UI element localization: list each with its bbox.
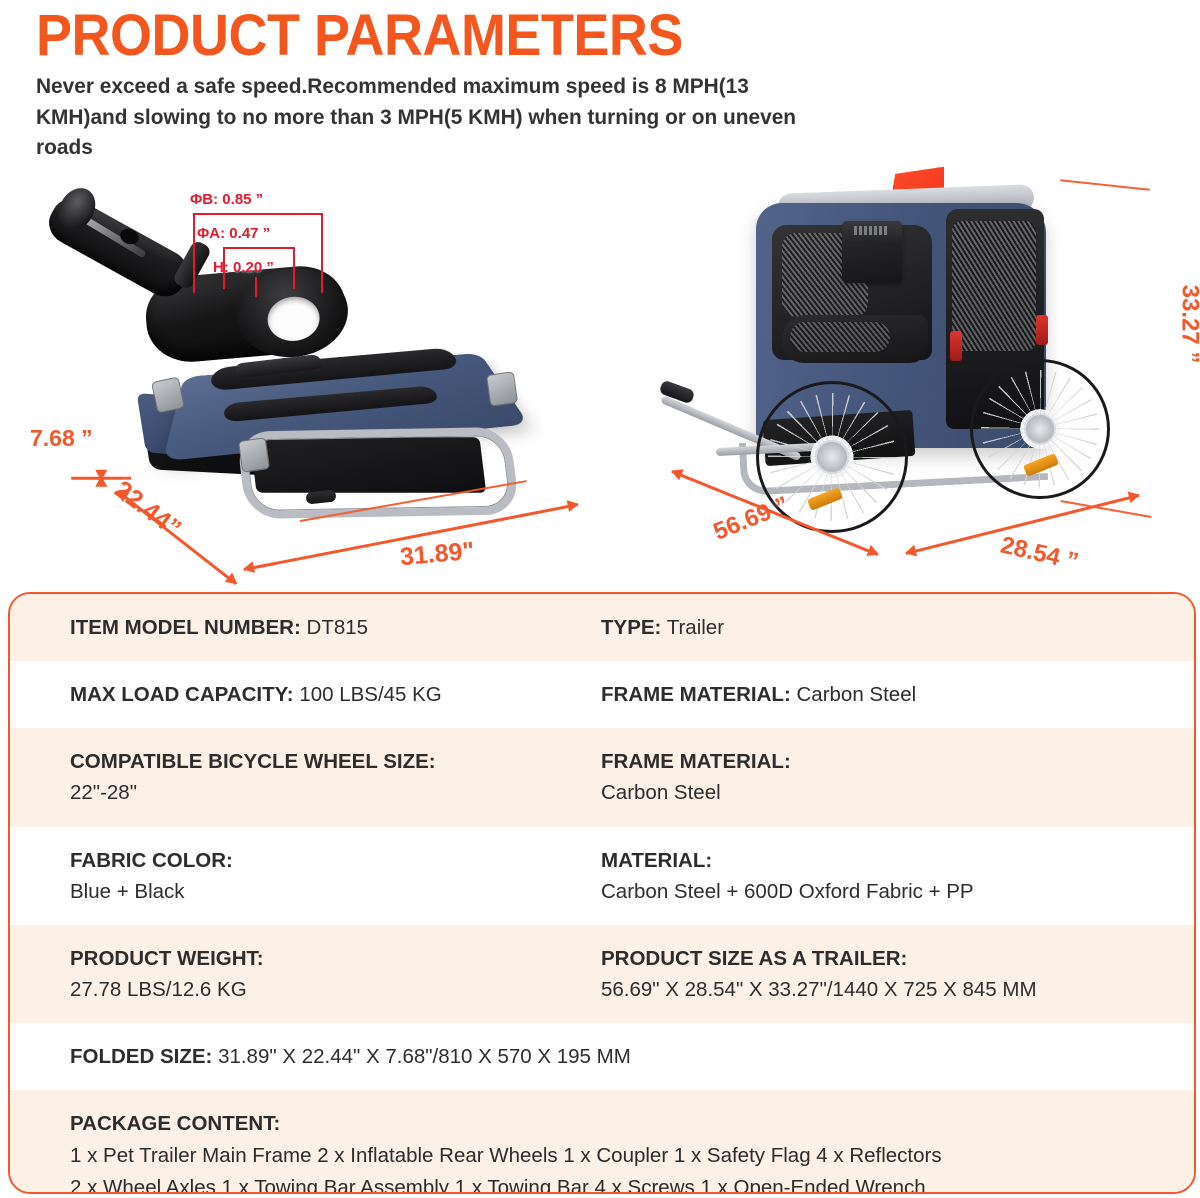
table-row: ITEM MODEL NUMBER: DT815 TYPE: Trailer	[10, 594, 1194, 661]
spec-value: Carbon Steel + 600D Oxford Fabric + PP	[601, 876, 1190, 907]
spec-key: ITEM MODEL NUMBER:	[70, 616, 301, 639]
folded-hinge-left	[151, 376, 185, 413]
table-row: PACKAGE CONTENT: 1 x Pet Trailer Main Fr…	[10, 1090, 1194, 1194]
product-image-band: ΦB: 0.85 ” ΦA: 0.47 ” H: 0.20 ”	[0, 163, 1200, 558]
specification-table: ITEM MODEL NUMBER: DT815 TYPE: Trailer M…	[8, 592, 1196, 1194]
spec-key: PRODUCT WEIGHT:	[70, 947, 264, 970]
package-line: 2 x Wheel Axles 1 x Towing Bar Assembly …	[70, 1172, 1194, 1194]
spec-key: MAX LOAD CAPACITY:	[70, 683, 294, 706]
callout-tick-b-right	[321, 213, 323, 293]
table-row: COMPATIBLE BICYCLE WHEEL SIZE: 22"-28" F…	[10, 728, 1194, 826]
spec-key: TYPE:	[601, 616, 661, 639]
table-row: FABRIC COLOR: Blue + Black MATERIAL: Car…	[10, 827, 1194, 925]
brand-logo	[854, 226, 888, 235]
spec-key: MATERIAL:	[601, 849, 712, 872]
table-row: PRODUCT WEIGHT: 27.78 LBS/12.6 KG PRODUC…	[10, 925, 1194, 1023]
rear-reflector-right	[1036, 315, 1048, 345]
rear-reflector-left	[950, 331, 962, 361]
spec-key: FOLDED SIZE:	[70, 1045, 212, 1068]
folded-hinge-front	[238, 437, 270, 473]
spec-value: Blue + Black	[70, 876, 585, 907]
rear-wheel-hub	[1026, 415, 1054, 443]
callout-tick-a-right	[293, 247, 295, 289]
spec-cell: MAX LOAD CAPACITY: 100 LBS/45 KG	[10, 661, 585, 728]
spec-key: PRODUCT SIZE AS A TRAILER:	[601, 947, 907, 970]
folded-length-label: 31.89"	[399, 537, 476, 572]
spec-value: 31.89" X 22.44" X 7.68"/810 X 570 X 195 …	[218, 1045, 631, 1068]
spec-cell: ITEM MODEL NUMBER: DT815	[10, 594, 585, 661]
spec-cell: FRAME MATERIAL: Carbon Steel	[585, 661, 1190, 728]
callout-tick-b-left	[193, 213, 195, 293]
spec-key: PACKAGE CONTENT:	[70, 1112, 280, 1135]
spec-cell: PRODUCT WEIGHT: 27.78 LBS/12.6 KG	[10, 925, 585, 1023]
spec-cell: FRAME MATERIAL: Carbon Steel	[585, 728, 1190, 826]
spec-value: 27.78 LBS/12.6 KG	[70, 974, 585, 1005]
spec-value: 56.69" X 28.54" X 33.27"/1440 X 725 X 84…	[601, 974, 1190, 1005]
callout-line-b	[193, 213, 323, 215]
callout-tick-h	[255, 277, 257, 297]
spec-value: Trailer	[667, 616, 724, 639]
package-content-cell: PACKAGE CONTENT: 1 x Pet Trailer Main Fr…	[10, 1090, 1194, 1194]
page-title: PRODUCT PARAMETERS	[36, 6, 1119, 65]
storage-pocket-flap	[842, 221, 902, 243]
spec-key: FABRIC COLOR:	[70, 849, 233, 872]
coupler-dimension-callouts: ΦB: 0.85 ” ΦA: 0.47 ” H: 0.20 ”	[185, 181, 355, 321]
assembled-trailer-image	[660, 163, 1150, 558]
spec-value: 100 LBS/45 KG	[299, 683, 441, 706]
front-wheel-hub	[817, 442, 847, 472]
rear-wheel	[970, 359, 1110, 499]
folded-hinge-right	[486, 371, 518, 407]
folded-steel-frame	[236, 427, 520, 519]
folded-height-label: 7.68 ”	[30, 425, 93, 452]
callout-tick-a-left	[223, 247, 225, 289]
spec-value: 22"-28"	[70, 777, 585, 808]
coupler-diameter-a-label: ΦA: 0.47 ”	[197, 225, 270, 242]
spec-value: Carbon Steel	[601, 777, 1190, 808]
spec-key: COMPATIBLE BICYCLE WHEEL SIZE:	[70, 750, 436, 773]
page-header: PRODUCT PARAMETERS Never exceed a safe s…	[0, 0, 1200, 163]
folded-size-cell: FOLDED SIZE: 31.89" X 22.44" X 7.68"/810…	[10, 1023, 1194, 1090]
spec-key: FRAME MATERIAL:	[601, 683, 791, 706]
spec-cell: COMPATIBLE BICYCLE WHEEL SIZE: 22"-28"	[10, 728, 585, 826]
trailer-storage-pocket	[842, 221, 902, 283]
spec-cell: FABRIC COLOR: Blue + Black	[10, 827, 585, 925]
callout-line-a	[223, 247, 295, 249]
spec-cell: MATERIAL: Carbon Steel + 600D Oxford Fab…	[585, 827, 1190, 925]
spec-value: Carbon Steel	[797, 683, 917, 706]
spec-key: FRAME MATERIAL:	[601, 750, 791, 773]
coupler-diameter-b-label: ΦB: 0.85 ”	[190, 191, 263, 208]
spec-cell: TYPE: Trailer	[585, 594, 1190, 661]
trailer-height-label: 33.27 ”	[1175, 285, 1200, 364]
table-row: FOLDED SIZE: 31.89" X 22.44" X 7.68"/810…	[10, 1023, 1194, 1090]
spec-value: DT815	[307, 616, 369, 639]
trailer-lower-mesh-window	[782, 315, 928, 363]
spec-cell: PRODUCT SIZE AS A TRAILER: 56.69" X 28.5…	[585, 925, 1190, 1023]
safety-note: Never exceed a safe speed.Recommended ma…	[36, 71, 812, 163]
table-row: MAX LOAD CAPACITY: 100 LBS/45 KG FRAME M…	[10, 661, 1194, 728]
package-line: 1 x Pet Trailer Main Frame 2 x Inflatabl…	[70, 1140, 1194, 1173]
